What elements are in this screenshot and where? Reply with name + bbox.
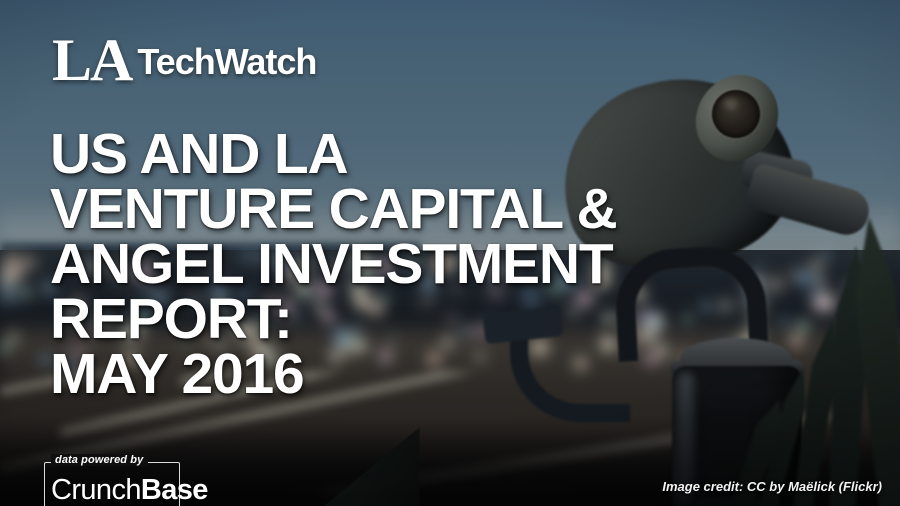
bokeh-light — [32, 261, 37, 266]
title-line-1: US AND LA — [50, 127, 770, 182]
title-line-4: REPORT: — [50, 292, 770, 347]
crunchbase-badge[interactable]: data powered by CrunchBase — [44, 462, 180, 506]
title-line-2: VENTURE CAPITAL & — [50, 182, 770, 237]
bokeh-light — [2, 287, 15, 300]
data-powered-by-label: data powered by — [51, 454, 148, 466]
bokeh-light — [2, 275, 12, 285]
viewer-lens-glint — [723, 98, 738, 109]
logo-la-mark: LA — [52, 33, 131, 88]
agave-plant — [750, 176, 900, 506]
title-line-5: MAY 2016 — [50, 347, 770, 402]
bokeh-light — [21, 288, 30, 297]
crunchbase-word-light: Crunch — [51, 474, 141, 506]
bokeh-light — [11, 336, 15, 340]
la-techwatch-logo[interactable]: LA TechWatch — [52, 33, 316, 89]
report-title-slide: LA TechWatch US AND LA VENTURE CAPITAL &… — [0, 0, 900, 506]
crunchbase-wordmark: CrunchBase — [51, 474, 208, 506]
bokeh-light — [43, 357, 48, 362]
page-title: US AND LA VENTURE CAPITAL & ANGEL INVEST… — [50, 127, 770, 402]
crunchbase-word-bold: Base — [141, 474, 208, 506]
title-line-3: ANGEL INVESTMENT — [50, 237, 770, 292]
logo-techwatch-wordmark: TechWatch — [137, 41, 316, 83]
bokeh-light — [3, 346, 8, 351]
image-credit: Image credit: CC by Maëlick (Flickr) — [662, 479, 882, 494]
bokeh-light — [24, 259, 31, 266]
